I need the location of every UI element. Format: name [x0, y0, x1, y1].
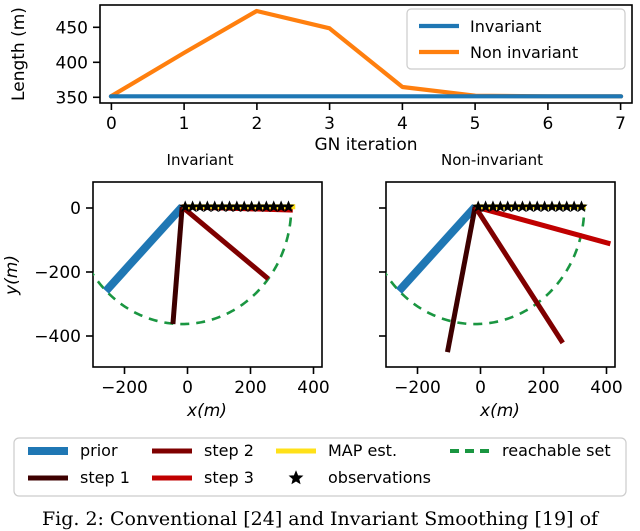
convergence-x-ticks	[111, 103, 620, 110]
non-invariant-xtick-200: 200	[527, 378, 559, 398]
invariant-ytick-neg200: −200	[34, 263, 81, 283]
convergence-xtick-2: 2	[251, 114, 262, 134]
non-invariant-plot-panel: Non-invariant −200 0 200 400 x(m)	[330, 145, 640, 420]
invariant-plot-panel: Invariant 0 −200 −400 y(m) −200 0 2	[0, 145, 330, 420]
convergence-xtick-3: 3	[324, 114, 335, 134]
invariant-xtick-neg200: −200	[101, 378, 148, 398]
shared-legend-svg: priorstep 1step 2step 3MAP est.observati…	[0, 428, 640, 504]
convergence-xtick-4: 4	[397, 114, 408, 134]
non-invariant-plot-svg: Non-invariant −200 0 200 400 x(m)	[330, 145, 640, 420]
non-invariant-plot-title: Non-invariant	[441, 151, 543, 169]
convergence-xtick-7: 7	[615, 114, 626, 134]
invariant-ylabel: y(m)	[2, 255, 22, 296]
convergence-chart-svg: 450 400 350 Length (m) 0 1 2 3 4 5	[0, 0, 640, 145]
shared-legend-panel[interactable]: priorstep 1step 2step 3MAP est.observati…	[0, 428, 640, 504]
legend-label: step 2	[204, 441, 254, 460]
legend-label: prior	[80, 441, 118, 460]
invariant-xlabel: x(m)	[186, 401, 227, 421]
convergence-ylabel: Length (m)	[9, 7, 29, 101]
invariant-x-ticks	[125, 367, 314, 374]
legend-label: MAP est.	[328, 441, 397, 460]
invariant-plot-title: Invariant	[167, 151, 234, 169]
invariant-y-ticks	[86, 208, 93, 336]
convergence-xtick-1: 1	[179, 114, 190, 134]
convergence-ytick-350: 350	[56, 89, 88, 109]
non-invariant-xtick-neg200: −200	[394, 378, 441, 398]
invariant-xtick-400: 400	[297, 378, 329, 398]
invariant-plot-svg: Invariant 0 −200 −400 y(m) −200 0 2	[0, 145, 330, 420]
figure-caption: Fig. 2: Conventional [24] and Invariant …	[0, 508, 640, 530]
convergence-xtick-5: 5	[470, 114, 481, 134]
invariant-ytick-0: 0	[70, 199, 81, 219]
legend-label-invariant: Invariant	[470, 17, 541, 36]
non-invariant-xtick-400: 400	[590, 378, 622, 398]
invariant-xtick-200: 200	[234, 378, 266, 398]
legend-label-non-invariant: Non invariant	[470, 43, 578, 62]
convergence-legend[interactable]: Invariant Non invariant	[407, 9, 625, 69]
convergence-ytick-450: 450	[56, 19, 88, 39]
legend-label: reachable set	[502, 441, 611, 460]
legend-label: observations	[328, 468, 431, 487]
legend-label: step 3	[204, 468, 254, 487]
convergence-y-ticks	[93, 27, 100, 97]
non-invariant-y-ticks	[379, 208, 386, 336]
convergence-chart-panel: 450 400 350 Length (m) 0 1 2 3 4 5	[0, 0, 640, 145]
invariant-ytick-neg400: −400	[34, 327, 81, 347]
non-invariant-xtick-0: 0	[475, 378, 486, 398]
convergence-xtick-6: 6	[542, 114, 553, 134]
figure-container: 450 400 350 Length (m) 0 1 2 3 4 5	[0, 0, 640, 531]
non-invariant-x-ticks	[418, 367, 607, 374]
non-invariant-xlabel: x(m)	[479, 401, 520, 421]
invariant-xtick-0: 0	[182, 378, 193, 398]
legend-label: step 1	[80, 468, 130, 487]
convergence-xtick-0: 0	[106, 114, 117, 134]
convergence-ytick-400: 400	[56, 54, 88, 74]
